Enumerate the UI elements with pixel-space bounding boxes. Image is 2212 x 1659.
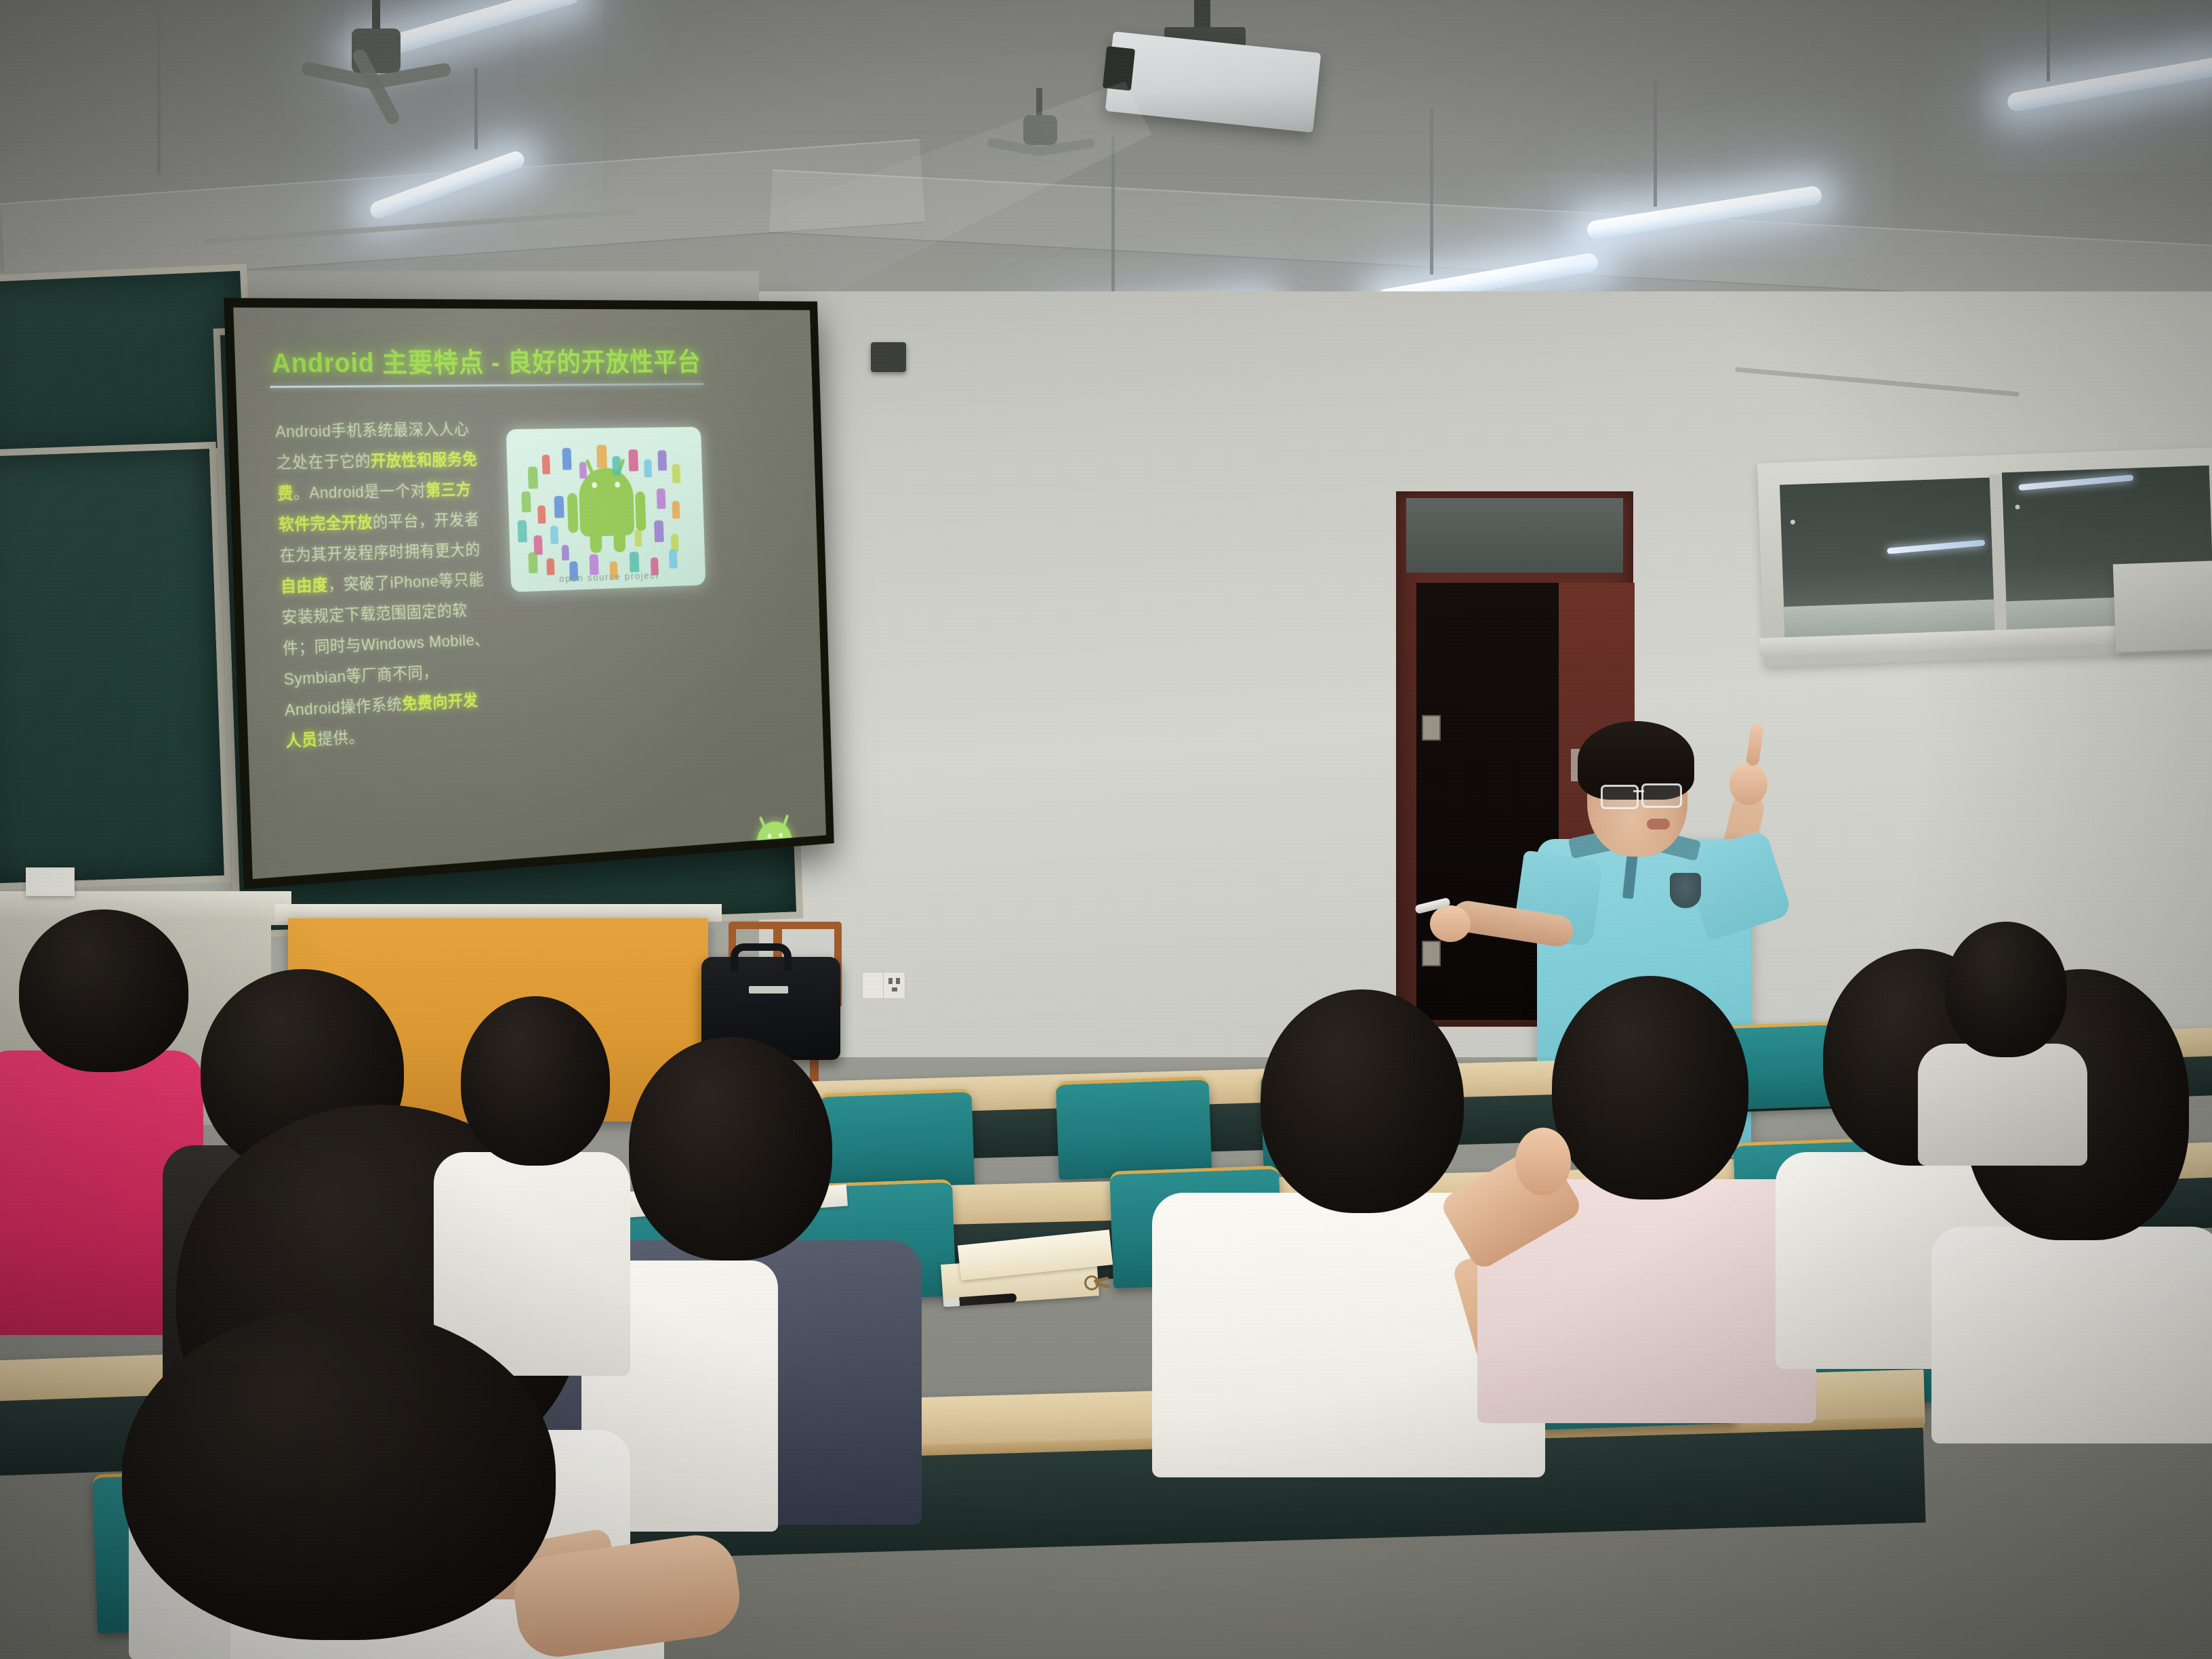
- android-eye-left: [592, 483, 597, 489]
- android-mascot-large: [575, 468, 638, 546]
- slide-title: Android 主要特点 - 良好的开放性平台: [271, 342, 701, 381]
- student-pink-shirt-hand: [1515, 1128, 1571, 1195]
- android-crowd-figure: [612, 456, 621, 476]
- android-crowd-figure: [562, 545, 569, 560]
- instructor-glasses-left-lens: [1601, 785, 1639, 809]
- student-grey-vest-head: [629, 1037, 832, 1261]
- slide-image-open-source: open source project: [506, 427, 706, 592]
- laptop-bag-handle: [731, 943, 792, 971]
- chalkboard-lower-left: [0, 442, 231, 891]
- window-light-reflection-1: [1887, 539, 1985, 554]
- student-back-right-head: [1945, 922, 2067, 1057]
- instructor-mouth: [1647, 819, 1670, 829]
- laptop-bag-label: [749, 986, 788, 994]
- android-crowd-figure: [628, 449, 638, 471]
- android-crowd-figure: [537, 506, 546, 524]
- android-crowd-figure: [672, 501, 680, 519]
- android-crowd-figure: [546, 558, 554, 575]
- window-glare-dot-1: [1790, 520, 1795, 525]
- android-crowd-figures: [506, 427, 701, 430]
- student-white-tank-head: [1261, 989, 1464, 1213]
- android-crowd-figure: [542, 455, 550, 474]
- instructor-glasses-bridge: [1633, 790, 1644, 792]
- android-crowd-figure: [630, 552, 640, 573]
- student-white-tee-left-head: [461, 996, 610, 1166]
- projector-lens: [1103, 46, 1135, 91]
- android-arm-left: [567, 493, 579, 533]
- tissue-box: [26, 867, 75, 896]
- android-crowd-figure: [657, 450, 667, 470]
- student-pink-shirt-head: [1552, 976, 1748, 1200]
- android-mascot-peeking: [752, 808, 796, 851]
- android-crowd-figure: [562, 448, 571, 470]
- android-crowd-figure: [654, 520, 664, 542]
- door-transom-window: [1406, 498, 1623, 573]
- android-leg-left: [590, 532, 602, 553]
- light-switch[interactable]: [862, 972, 884, 999]
- android-crowd-figure: [550, 526, 558, 544]
- light-hanger-5: [1654, 81, 1657, 207]
- android-crowd-figure: [596, 445, 607, 468]
- android-crowd-figure: [634, 530, 642, 547]
- slide-text-plain: 。Android是一个对: [293, 482, 426, 503]
- student-back-right: [1918, 922, 2094, 1166]
- android-crowd-figure: [554, 496, 564, 518]
- slide-title-rule: [270, 383, 703, 388]
- presentation-slide: Android 主要特点 - 良好的开放性平台 Android手机系统最深入人心…: [233, 308, 826, 879]
- android-crowd-figure: [644, 459, 652, 478]
- socket-hole-left: [888, 978, 893, 984]
- student-back-right-torso: [1918, 1044, 2087, 1166]
- android-crowd-figure: [669, 549, 678, 569]
- wall-speaker: [871, 342, 906, 372]
- classroom-scene: Android 主要特点 - 良好的开放性平台 Android手机系统最深入人心…: [0, 0, 2212, 1659]
- instructor-chest-emblem: [1670, 873, 1701, 908]
- android-crowd-figure: [521, 491, 531, 512]
- student-nearest-bottom-head: [122, 1308, 556, 1640]
- android-leg-right: [613, 531, 626, 552]
- android-crowd-figure: [672, 464, 680, 483]
- slide-image-caption: open source project: [511, 569, 705, 586]
- slide-body-text: Android手机系统最深入人心之处在于它的开放性和服务免费。Android是一…: [275, 415, 494, 758]
- android-crowd-figure: [528, 466, 538, 489]
- android-body: [579, 489, 634, 537]
- android-crowd-figure: [517, 520, 527, 542]
- slide-text-plain: 提供。: [317, 728, 365, 749]
- instructor-raised-hand: [1729, 763, 1767, 805]
- android-crowd-figure: [579, 462, 587, 478]
- instructor-glasses-right-lens: [1641, 783, 1682, 808]
- window-frame-far: [2113, 560, 2212, 652]
- ceiling-fan-rear: [989, 88, 1091, 176]
- socket-hole-lower: [892, 987, 897, 991]
- android-crowd-figure: [528, 552, 537, 573]
- projection-screen: Android 主要特点 - 良好的开放性平台 Android手机系统最深入人心…: [224, 298, 834, 889]
- fan-motor-rear: [1023, 115, 1057, 145]
- instructor-index-finger: [1746, 723, 1764, 766]
- power-socket[interactable]: [883, 972, 905, 999]
- android-eye-right: [615, 482, 620, 488]
- socket-hole-right: [896, 978, 900, 984]
- instructor-pointer-hand: [1430, 905, 1471, 942]
- slide-text-highlight: 自由度: [281, 576, 329, 596]
- light-hanger-2: [474, 68, 478, 149]
- ceiling-fan: [305, 0, 447, 115]
- android-arm-right: [635, 491, 647, 531]
- light-hanger-4: [1430, 108, 1433, 274]
- window-light-reflection-2: [2018, 474, 2133, 491]
- window-glare-dot-2: [2015, 505, 2020, 510]
- fan-rod-rear: [1036, 88, 1042, 118]
- student-glasses-right-torso: [1931, 1227, 2212, 1443]
- light-hanger-1: [157, 0, 161, 175]
- window-pane-1: [1780, 478, 1995, 644]
- android-crowd-figure: [657, 489, 666, 509]
- keyring[interactable]: [1084, 1273, 1115, 1290]
- light-hanger-6: [2047, 0, 2050, 81]
